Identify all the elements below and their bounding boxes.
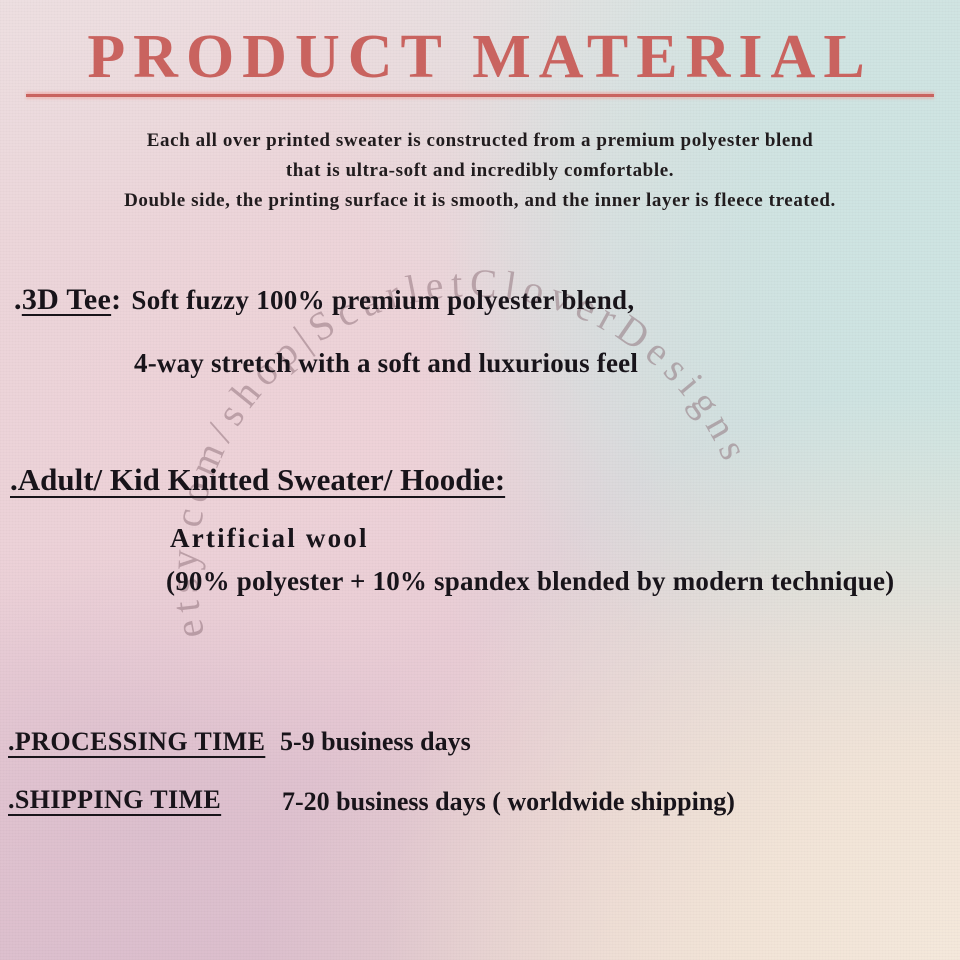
section-3d-tee-dot: . [14, 283, 22, 316]
section-3d-tee-detail: Soft fuzzy 100% premium polyester blend, [131, 285, 634, 315]
intro-line-2: that is ultra-soft and incredibly comfor… [30, 156, 930, 186]
intro-line-1: Each all over printed sweater is constru… [30, 126, 930, 156]
processing-time-value: 5-9 business days [280, 727, 471, 757]
intro-line-3: Double side, the printing surface it is … [30, 186, 930, 216]
shipping-time-label: .SHIPPING TIME [8, 785, 221, 815]
title-underline-rule [26, 94, 934, 97]
poster-content: PRODUCT MATERIAL Each all over printed s… [0, 0, 960, 960]
section-sweater-material: Artificial wool [170, 523, 369, 554]
section-3d-tee: .3D Tee:Soft fuzzy 100% premium polyeste… [14, 283, 634, 317]
section-3d-tee-label: 3D Tee [22, 283, 111, 316]
section-sweater-heading: .Adult/ Kid Knitted Sweater/ Hoodie: [10, 462, 505, 498]
product-material-poster: etsy.com/shop|ScarletCloverDesigns PRODU… [0, 0, 960, 960]
section-3d-tee-colon: : [111, 283, 121, 316]
processing-time-label: .PROCESSING TIME [8, 727, 265, 757]
section-sweater-composition: (90% polyester + 10% spandex blended by … [166, 566, 894, 597]
section-3d-tee-detail-2: 4-way stretch with a soft and luxurious … [134, 348, 638, 379]
intro-paragraph: Each all over printed sweater is constru… [30, 126, 930, 216]
page-title: PRODUCT MATERIAL [0, 22, 960, 92]
shipping-time-value: 7-20 business days ( worldwide shipping) [282, 787, 735, 817]
